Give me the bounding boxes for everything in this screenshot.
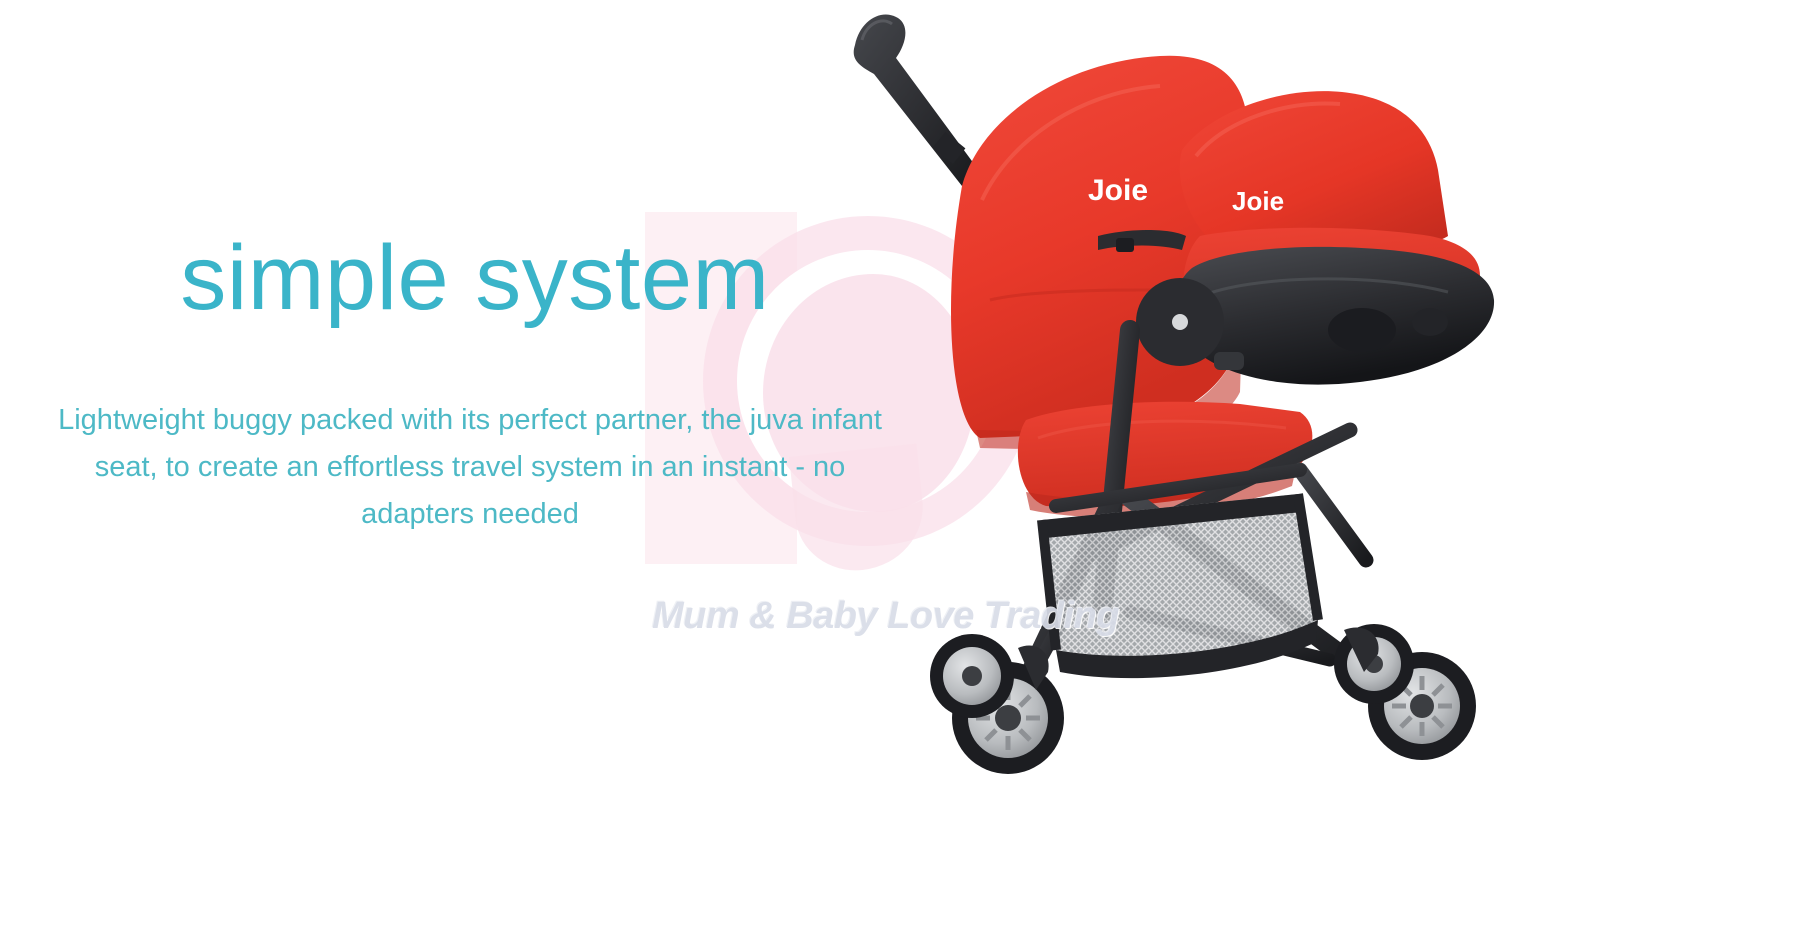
brand-logo-carseat: Joie [1232,186,1284,216]
brand-logo-canopy: Joie [1088,174,1148,207]
promo-banner: simple system Lightweight buggy packed w… [0,0,1798,942]
push-handle [854,14,980,186]
product-image-stroller: Joie Joie [830,0,1798,942]
rear-wheels [1334,624,1476,760]
storage-basket [1042,494,1318,678]
description-line-3: adapters needed [55,491,885,538]
marketing-description: Lightweight buggy packed with its perfec… [0,397,940,538]
description-line-2: seat, to create an effortless travel sys… [55,444,885,491]
description-line-1: Lightweight buggy packed with its perfec… [55,397,885,444]
front-wheels [930,634,1064,774]
page-title: simple system [0,230,940,327]
marketing-copy: simple system Lightweight buggy packed w… [0,230,940,538]
